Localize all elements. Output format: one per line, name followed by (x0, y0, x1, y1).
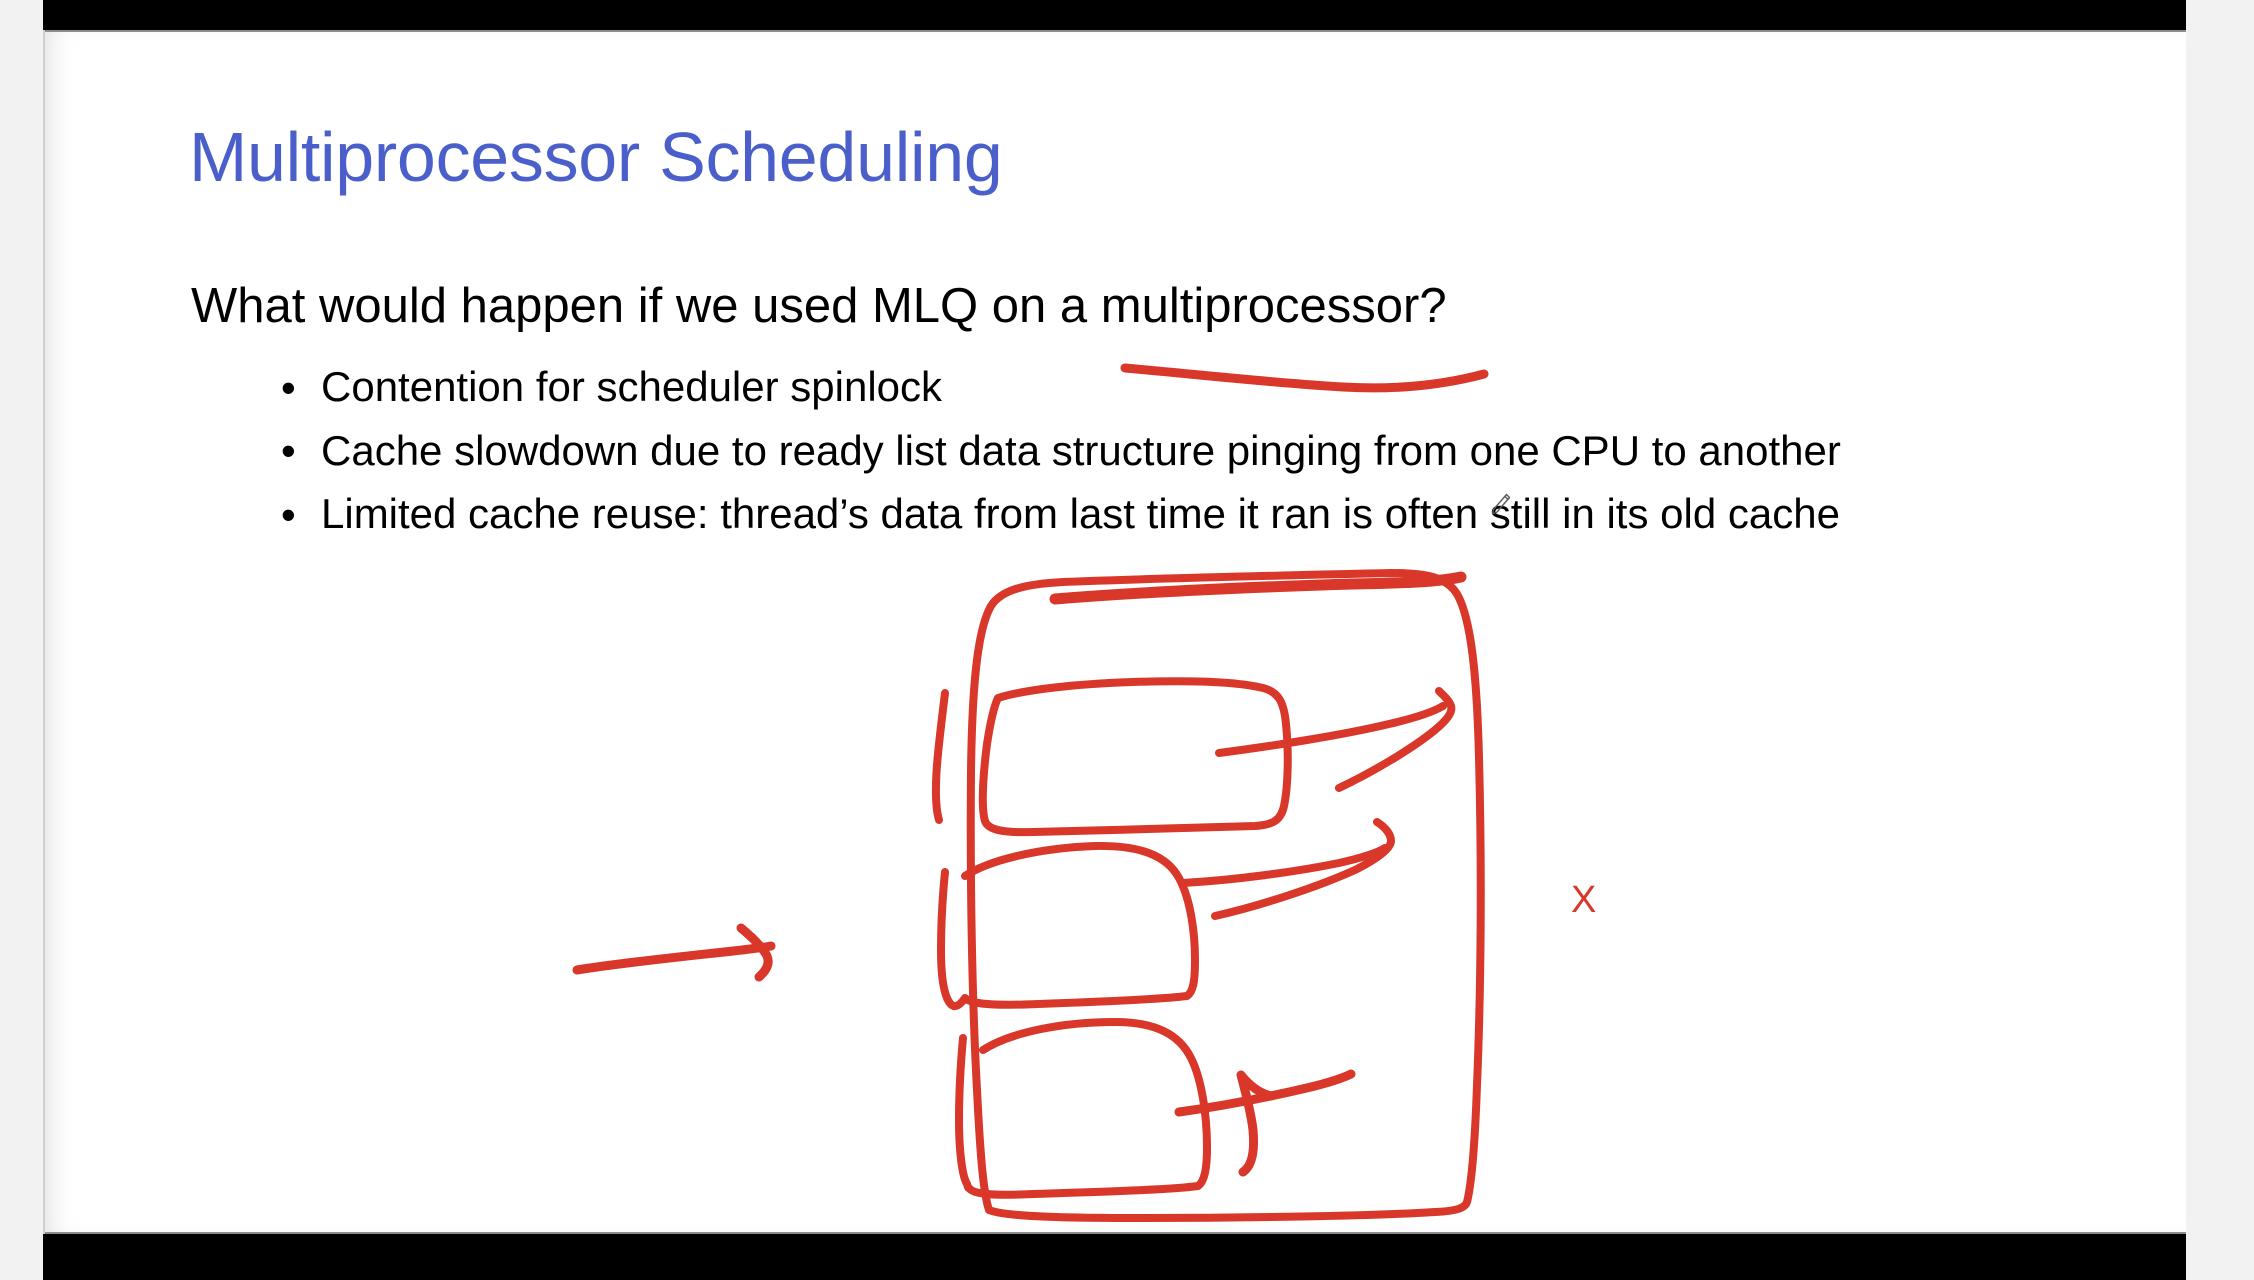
ink-inner-box-1-stroke (936, 681, 1288, 832)
list-item-text: Cache slowdown due to ready list data st… (321, 427, 1841, 474)
lead-question: What would happen if we used MLQ on a mu… (191, 280, 1447, 334)
pen-cursor-icon (1486, 490, 1516, 520)
list-item-text: Limited cache reuse: thread’s data from … (321, 490, 1840, 537)
ink-annotation-layer (43, 30, 2186, 1234)
list-item: • Contention for scheduler spinlock (275, 362, 2035, 412)
slide-canvas[interactable]: Multiprocessor Scheduling What would hap… (43, 30, 2186, 1234)
ink-arrow-1-head (1339, 691, 1451, 788)
ink-outer-box-stroke (971, 573, 1481, 1218)
ink-arrow-2-head (1215, 822, 1391, 916)
presentation-viewer: Multiprocessor Scheduling What would hap… (0, 0, 2254, 1280)
ink-left-arrow-head (741, 928, 768, 977)
ink-left-arrow-stroke (577, 946, 771, 970)
ink-arrow-2-stroke (1183, 848, 1385, 883)
list-item: • Cache slowdown due to ready list data … (275, 426, 2035, 476)
ink-arrow-3-stroke (1179, 1074, 1351, 1112)
bullet-dot-icon: • (281, 490, 296, 540)
list-item-text: Contention for scheduler spinlock (321, 363, 942, 410)
x-mark-annotation: X (1571, 881, 1596, 919)
ink-arrow-1-stroke (1219, 706, 1443, 753)
bullet-list: • Contention for scheduler spinlock • Ca… (275, 362, 2035, 553)
page-title: Multiprocessor Scheduling (189, 120, 1002, 194)
bullet-dot-icon: • (281, 363, 296, 413)
ink-inner-box-2-stroke (941, 846, 1195, 1006)
bullet-dot-icon: • (281, 426, 296, 476)
ink-inner-box-3-stroke (959, 1022, 1207, 1195)
list-item: • Limited cache reuse: thread’s data fro… (275, 489, 2035, 539)
ink-strikethrough-stroke (1055, 577, 1461, 599)
slide-stage: Multiprocessor Scheduling What would hap… (43, 0, 2186, 1280)
slide-left-seam (43, 30, 45, 1234)
ink-arrow-3-head (1241, 1075, 1271, 1172)
